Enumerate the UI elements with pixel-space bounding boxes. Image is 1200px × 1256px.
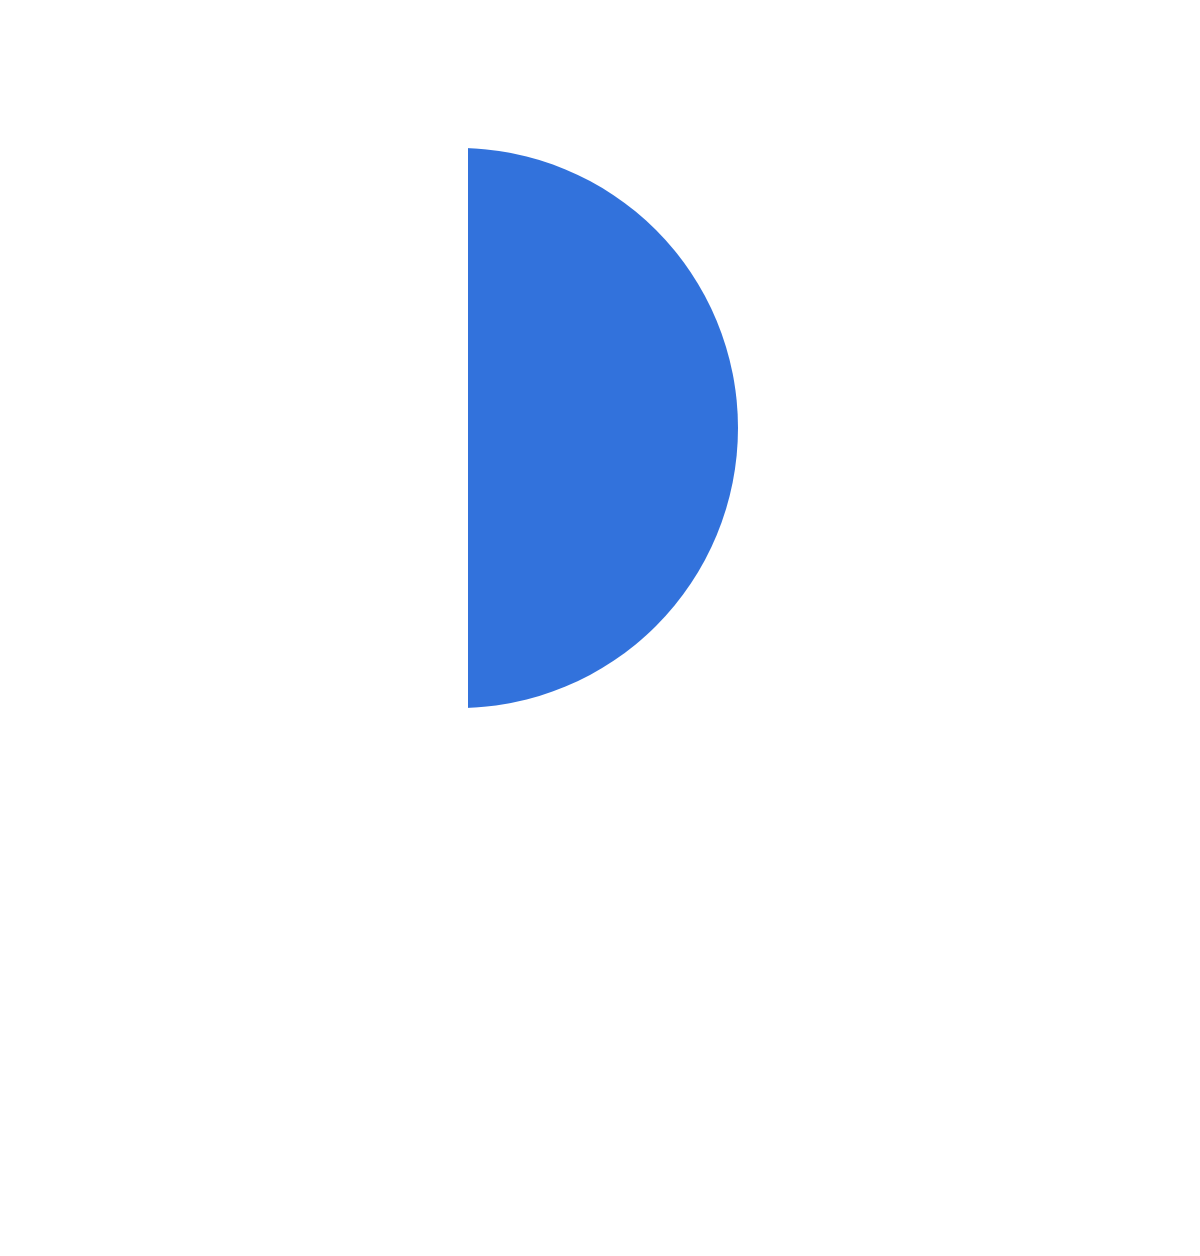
- venn-center-item-0: Empathy: [0, 698, 266, 730]
- venn-center-content: Empathy Collaboration Design thinking Pr…: [0, 698, 266, 928]
- venn-diagram: UX Product strategy User research Inform…: [0, 118, 1200, 746]
- venn-right-item-0: Color theory: [0, 1126, 290, 1158]
- venn-center-item-3: Prototyping: [0, 896, 266, 928]
- venn-left-heading: UX: [0, 118, 290, 166]
- venn-right-content: UI Color theory Typography Design patter…: [0, 1046, 290, 1256]
- venn-right-item-1: Typography: [0, 1190, 290, 1222]
- venn-overlap-region: [468, 148, 738, 708]
- venn-center-item-2: Design thinking: [0, 830, 266, 862]
- venn-center-item-1: Collaboration: [0, 764, 266, 796]
- venn-right-heading: UI: [0, 1046, 290, 1094]
- venn-right-item-2: Design patterns: [0, 1254, 290, 1256]
- venn-left-content: UX Product strategy User research Inform…: [0, 118, 290, 486]
- venn-left-item-0: Product strategy: [0, 198, 290, 230]
- venn-left-item-2: Information architecture: [0, 326, 290, 390]
- venn-left-item-3: Testing and iteration: [0, 422, 290, 486]
- venn-left-item-1: User research: [0, 262, 290, 294]
